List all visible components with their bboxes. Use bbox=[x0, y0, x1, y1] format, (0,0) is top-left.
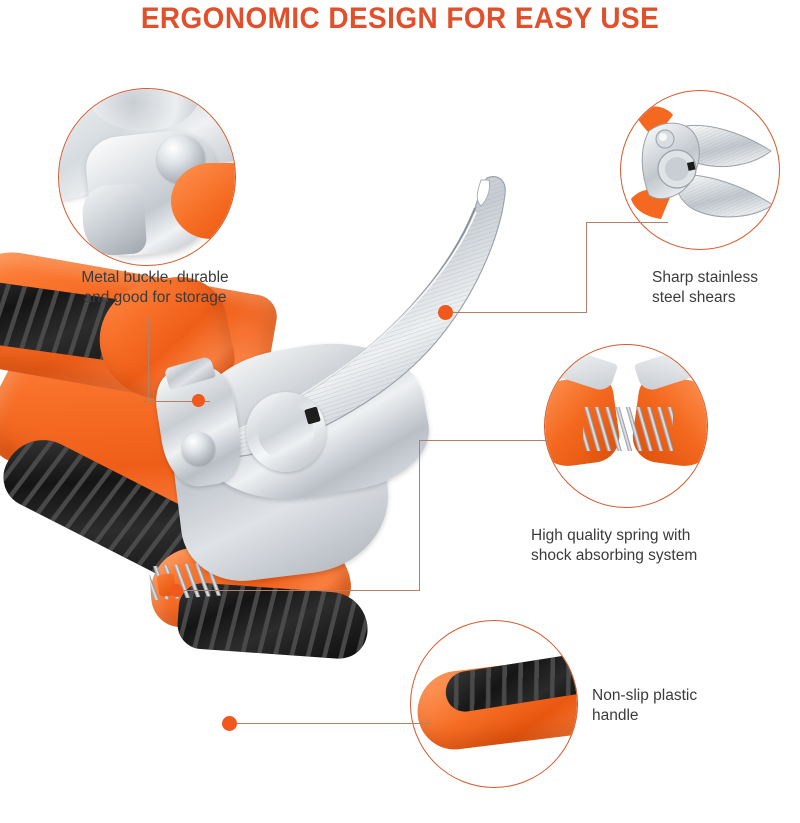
callout-label-sharp-shears: Sharp stainless steel shears bbox=[652, 268, 800, 309]
hotspot-spring bbox=[170, 584, 183, 597]
shear-head-svg bbox=[621, 91, 779, 249]
hotspot-metal-buckle bbox=[192, 394, 205, 407]
metal-buckle-closeup bbox=[59, 89, 235, 265]
connector-handle-horizontal bbox=[236, 723, 431, 724]
inset-handle-closeup bbox=[410, 620, 578, 788]
page-title: ERGONOMIC DESIGN FOR EASY USE bbox=[28, 2, 772, 36]
inset-spring-closeup bbox=[544, 344, 708, 508]
callout-label-metal-buckle: Metal buckle, durable and good for stora… bbox=[46, 268, 264, 309]
blade-shape bbox=[195, 160, 525, 460]
spring-coil-closeup bbox=[583, 407, 673, 451]
inset-shear-head-closeup bbox=[620, 90, 780, 250]
spring-closeup bbox=[545, 345, 707, 507]
connector-shears-vertical bbox=[586, 222, 587, 313]
curved-stainless-blade bbox=[195, 160, 525, 460]
connector-shears-horizontal-upper bbox=[586, 222, 668, 223]
connector-shears-horizontal-lower bbox=[450, 312, 587, 313]
hotspot-handle bbox=[222, 716, 237, 731]
inset-metal-buckle-closeup bbox=[58, 88, 236, 266]
shear-head-closeup bbox=[621, 91, 779, 249]
callout-label-spring: High quality spring with shock absorbing… bbox=[531, 526, 761, 567]
connector-spring-horizontal-upper bbox=[419, 440, 549, 441]
connector-spring-vertical bbox=[419, 440, 420, 591]
connector-spring-horizontal-lower bbox=[180, 590, 420, 591]
handle-closeup bbox=[411, 621, 577, 787]
callout-label-handle: Non-slip plastic handle bbox=[592, 686, 762, 727]
connector-metal-buckle-vertical bbox=[148, 318, 149, 402]
hotspot-sharp-shears bbox=[438, 305, 453, 320]
product-infographic: ERGONOMIC DESIGN FOR EASY USE bbox=[0, 0, 800, 823]
buckle-rivet bbox=[182, 432, 215, 465]
